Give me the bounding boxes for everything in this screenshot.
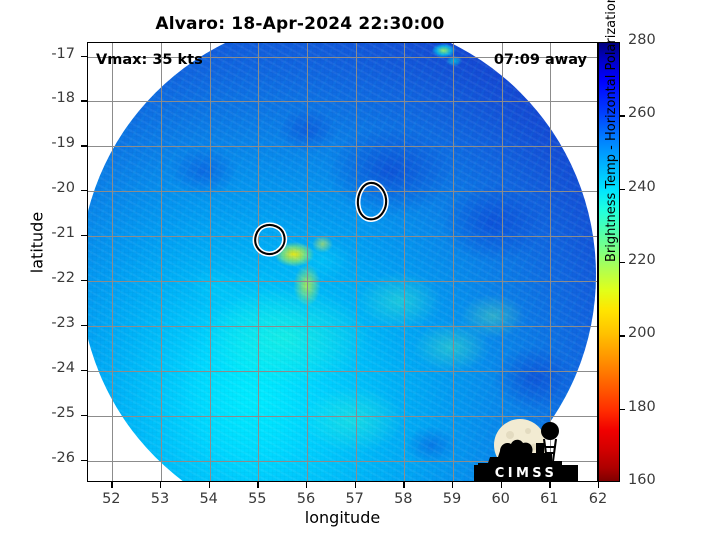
colorbar-tick: [620, 335, 625, 336]
colorbar-tick-label: 180: [628, 399, 656, 415]
page-title: Alvaro: 18-Apr-2024 22:30:00: [0, 14, 600, 34]
gridline-horizontal: [88, 101, 597, 102]
x-axis-tick-label: 52: [91, 491, 131, 507]
x-axis-tick: [549, 482, 550, 488]
colorbar-tick: [620, 262, 625, 263]
gridline-horizontal: [88, 371, 597, 372]
y-axis-tick: [81, 56, 87, 57]
colorbar-tick-label: 260: [628, 105, 656, 121]
y-axis-tick: [81, 415, 87, 416]
y-axis-tick: [81, 190, 87, 191]
x-axis-tick: [452, 482, 453, 488]
y-axis-tick: [81, 235, 87, 236]
map-plot-area: Vmax: 35 kts 07:09 away CIMSS: [87, 42, 598, 482]
x-axis-tick: [306, 482, 307, 488]
x-axis-tick-label: 61: [529, 491, 569, 507]
gridline-horizontal: [88, 326, 597, 327]
y-axis-tick: [81, 460, 87, 461]
cimss-logo: CIMSS: [474, 417, 578, 481]
y-axis-label: latitude: [28, 188, 47, 298]
gridline-horizontal: [88, 281, 597, 282]
colorbar-tick: [620, 115, 625, 116]
time-away-annotation: 07:09 away: [494, 52, 587, 68]
colorbar-tick-label: 220: [628, 252, 656, 268]
vmax-annotation: Vmax: 35 kts: [96, 52, 203, 68]
y-axis-tick-label: -25: [31, 405, 75, 421]
y-axis-tick: [81, 325, 87, 326]
y-axis-tick-label: -17: [31, 46, 75, 62]
island-reunion: [250, 221, 294, 261]
y-axis-tick: [81, 145, 87, 146]
colorbar-label: Brightness Temp - Horizontal Polarizatio…: [604, 0, 619, 262]
y-axis-tick: [81, 100, 87, 101]
gridline-horizontal: [88, 146, 597, 147]
colorbar-tick-label: 280: [628, 32, 656, 48]
x-axis-tick: [355, 482, 356, 488]
x-axis-label: longitude: [87, 508, 598, 527]
x-axis-tick-label: 53: [140, 491, 180, 507]
x-axis-tick: [111, 482, 112, 488]
x-axis-tick-label: 56: [286, 491, 326, 507]
y-axis-tick: [81, 370, 87, 371]
y-axis-tick-label: -26: [31, 450, 75, 466]
x-axis-tick: [257, 482, 258, 488]
y-axis-tick-label: -18: [31, 90, 75, 106]
x-axis-tick-label: 59: [432, 491, 472, 507]
y-axis-tick: [81, 280, 87, 281]
y-axis-tick-label: -19: [31, 135, 75, 151]
x-axis-tick-label: 58: [383, 491, 423, 507]
y-axis-tick-label: -24: [31, 360, 75, 376]
x-axis-tick: [160, 482, 161, 488]
x-axis-tick-label: 55: [237, 491, 277, 507]
gridline-horizontal: [88, 236, 597, 237]
colorbar-tick: [620, 189, 625, 190]
colorbar-tick-label: 240: [628, 179, 656, 195]
x-axis-tick-label: 60: [481, 491, 521, 507]
island-mauritius: [350, 179, 394, 225]
x-axis-tick-label: 54: [189, 491, 229, 507]
colorbar-tick: [620, 409, 625, 410]
x-axis-tick: [501, 482, 502, 488]
colorbar-tick-label: 160: [628, 472, 656, 488]
gridline-horizontal: [88, 191, 597, 192]
x-axis-tick-label: 62: [578, 491, 618, 507]
x-axis-tick: [598, 482, 599, 488]
x-axis-tick: [403, 482, 404, 488]
x-axis-tick-label: 57: [335, 491, 375, 507]
y-axis-tick-label: -23: [31, 315, 75, 331]
colorbar-tick-label: 200: [628, 325, 656, 341]
x-axis-tick: [209, 482, 210, 488]
cimss-logo-text: CIMSS: [495, 466, 557, 481]
